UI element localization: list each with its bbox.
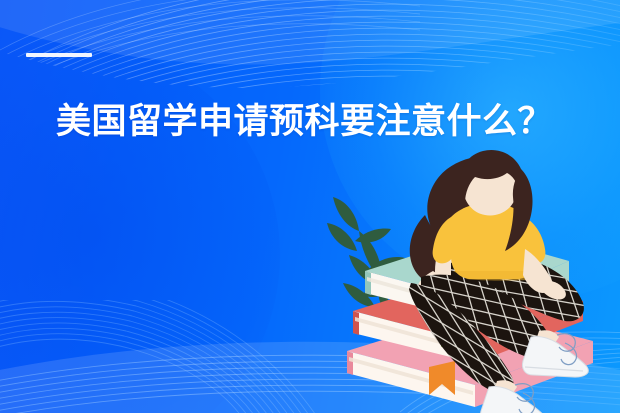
- page-title: 美国留学申请预科要注意什么？: [56, 100, 553, 144]
- illustration-woman-on-books: [325, 145, 620, 413]
- accent-rule: [26, 53, 92, 57]
- banner-root: 美国留学申请预科要注意什么？: [0, 0, 620, 413]
